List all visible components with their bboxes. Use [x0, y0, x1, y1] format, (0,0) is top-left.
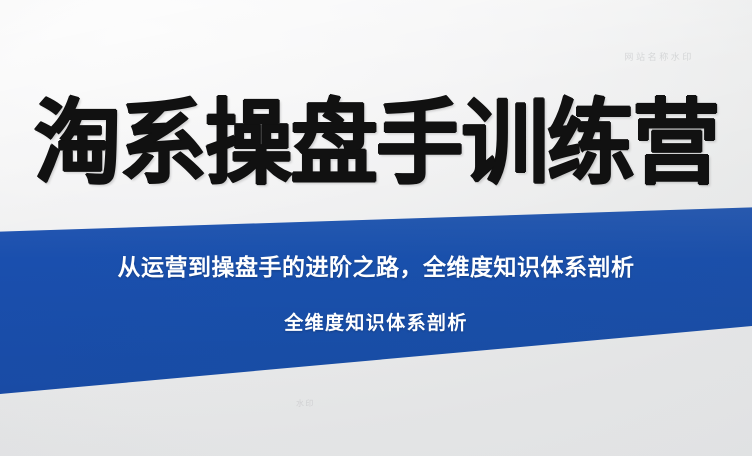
poster-canvas: 网站名称水印 淘系操盘手训练营 从运营到操盘手的进阶之路，全维度知识体系剖析 全…: [0, 0, 752, 456]
title-container: 淘系操盘手训练营: [0, 96, 752, 192]
subtitle-secondary: 全维度知识体系剖析: [0, 308, 752, 335]
subtitle-primary-container: 从运营到操盘手的进阶之路，全维度知识体系剖析: [0, 248, 752, 282]
subtitle-primary: 从运营到操盘手的进阶之路，全维度知识体系剖析: [0, 248, 752, 282]
watermark-top-right: 网站名称水印: [624, 50, 694, 63]
subtitle-secondary-container: 全维度知识体系剖析: [0, 308, 752, 335]
main-title: 淘系操盘手训练营: [28, 96, 723, 192]
watermark-bottom-center: 水印: [296, 398, 315, 409]
